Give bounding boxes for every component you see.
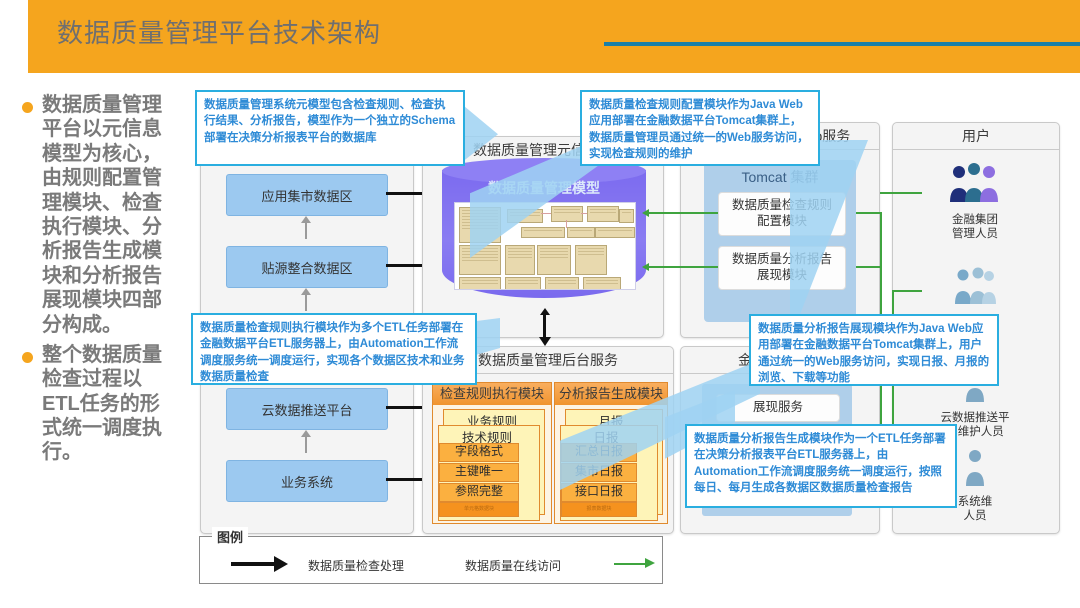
stack-row: 字段格式 xyxy=(439,443,519,462)
page-title: 数据质量管理平台技术架构 xyxy=(57,13,381,50)
callout-meta-model[interactable]: 数据质量管理系统元模型包含检查规则、检查执行结果、分析报告，模型作为一个独立的S… xyxy=(195,90,465,166)
module-report-gen-header: 分析报告生成模块 xyxy=(555,383,667,405)
panel-users-title: 用户 xyxy=(893,123,1059,150)
zone-box-source-integration[interactable]: 贴源整合数据区 xyxy=(226,246,388,288)
callout-report-view[interactable]: 数据质量分析报告展现模块作为Java Web应用部署在金融数据平台Tomcat集… xyxy=(749,314,999,386)
stack-cap: 单元格数据块 xyxy=(439,502,519,517)
user-label: 金融集团 管理人员 xyxy=(929,213,1021,242)
legend-green-line xyxy=(614,563,646,565)
legend-item-label: 数据质量检查处理 xyxy=(308,557,404,574)
callout-text: 数据质量分析报告展现模块作为Java Web应用部署在金融数据平台Tomcat集… xyxy=(758,323,989,384)
green-connector xyxy=(892,290,922,292)
green-connector-meta xyxy=(648,212,718,214)
header-rule xyxy=(604,42,1080,46)
zone-connector-line xyxy=(305,294,307,311)
legend-green-arrow-icon xyxy=(645,558,655,568)
meta-backstage-arrow-icon xyxy=(539,337,551,346)
group-people-icon xyxy=(945,162,1005,206)
bullet-dot-icon xyxy=(22,102,33,113)
module-rule-exec-header: 检查规则执行模块 xyxy=(433,383,551,405)
module-display-service-label: 展现服务 xyxy=(753,400,803,416)
legend-black-arrow-icon xyxy=(274,556,288,572)
zone-connector-arrow-icon xyxy=(301,288,311,295)
green-connector xyxy=(856,212,882,214)
list-item: 数据质量管理平台以元信息模型为核心，由规则配置管理模块、检查执行模块、分析报告生… xyxy=(12,93,190,337)
green-connector xyxy=(880,192,922,194)
zone-box-cloud-push[interactable]: 云数据推送平台 xyxy=(226,388,388,430)
user-finance-group-manager[interactable]: 金融集团 管理人员 xyxy=(929,162,1021,242)
legend: 图例 数据质量检查处理 数据质量在线访问 xyxy=(199,536,663,584)
callout-text: 数据质量管理系统元模型包含检查规则、检查执行结果、分析报告，模型作为一个独立的S… xyxy=(204,99,455,144)
legend-title: 图例 xyxy=(212,527,248,546)
stack-row: 接口日报 xyxy=(561,483,637,502)
zone-connector-arrow-icon xyxy=(301,430,311,437)
bullet-text: 数据质量管理平台以元信息模型为核心，由规则配置管理模块、检查执行模块、分析报告生… xyxy=(42,93,174,337)
callout-rule-config[interactable]: 数据质量检查规则配置模块作为Java Web应用部署在金融数据平台Tomcat集… xyxy=(580,90,820,166)
meta-backstage-arrow-up-icon xyxy=(540,308,550,315)
person-icon xyxy=(952,448,998,488)
green-arrow-icon xyxy=(642,209,649,217)
zone-label: 应用集市数据区 xyxy=(261,186,352,205)
zone-label: 业务系统 xyxy=(281,472,333,491)
header-left-accent xyxy=(0,0,28,73)
header-bar: 数据质量管理平台技术架构 xyxy=(0,0,1080,73)
green-arrow-icon xyxy=(642,263,649,271)
zone-label: 云数据推送平台 xyxy=(261,400,352,419)
legend-black-line xyxy=(231,562,275,566)
list-item: 整个数据质量检查过程以ETL任务的形式统一调度执行。 xyxy=(12,343,190,465)
stack-row: 参照完整 xyxy=(439,483,519,502)
bullet-text: 整个数据质量检查过程以ETL任务的形式统一调度执行。 xyxy=(42,343,174,465)
callout-rule-exec[interactable]: 数据质量检查规则执行模块作为多个ETL任务部署在金融数据平台ETL服务器上，由A… xyxy=(191,313,477,385)
green-connector-meta xyxy=(648,266,718,268)
zone-label: 贴源整合数据区 xyxy=(261,258,352,277)
stack-cap: 报表数据块 xyxy=(561,502,637,517)
legend-item-label: 数据质量在线访问 xyxy=(465,557,561,574)
module-report-display[interactable]: 数据质量分析报告 展现模块 xyxy=(718,246,846,290)
callout-text: 数据质量检查规则执行模块作为多个ETL任务部署在金融数据平台ETL服务器上，由A… xyxy=(200,322,465,383)
callout-text: 数据质量检查规则配置模块作为Java Web应用部署在金融数据平台Tomcat集… xyxy=(589,99,809,160)
green-connector xyxy=(856,266,882,268)
zone-connector-arrow-icon xyxy=(301,216,311,223)
zone-box-business-system[interactable]: 业务系统 xyxy=(226,460,388,502)
zone-connector-line xyxy=(305,436,307,453)
bullet-list: 数据质量管理平台以元信息模型为核心，由规则配置管理模块、检查执行模块、分析报告生… xyxy=(12,93,190,598)
callout-report-gen[interactable]: 数据质量分析报告生成模块作为一个ETL任务部署在决策分析报表平台ETL服务器上，… xyxy=(685,424,957,508)
zone-box-app-mart[interactable]: 应用集市数据区 xyxy=(226,174,388,216)
callout-text: 数据质量分析报告生成模块作为一个ETL任务部署在决策分析报表平台ETL服务器上，… xyxy=(694,433,946,494)
module-rule-exec[interactable]: 检查规则执行模块 业务规则 技术规则 字段格式 主键唯一 参照完整 单元格数据块 xyxy=(432,382,552,524)
stack-row: 主键唯一 xyxy=(439,463,519,482)
zone-connector-line xyxy=(305,222,307,239)
bullet-dot-icon xyxy=(22,352,33,363)
two-people-icon xyxy=(945,266,1005,308)
